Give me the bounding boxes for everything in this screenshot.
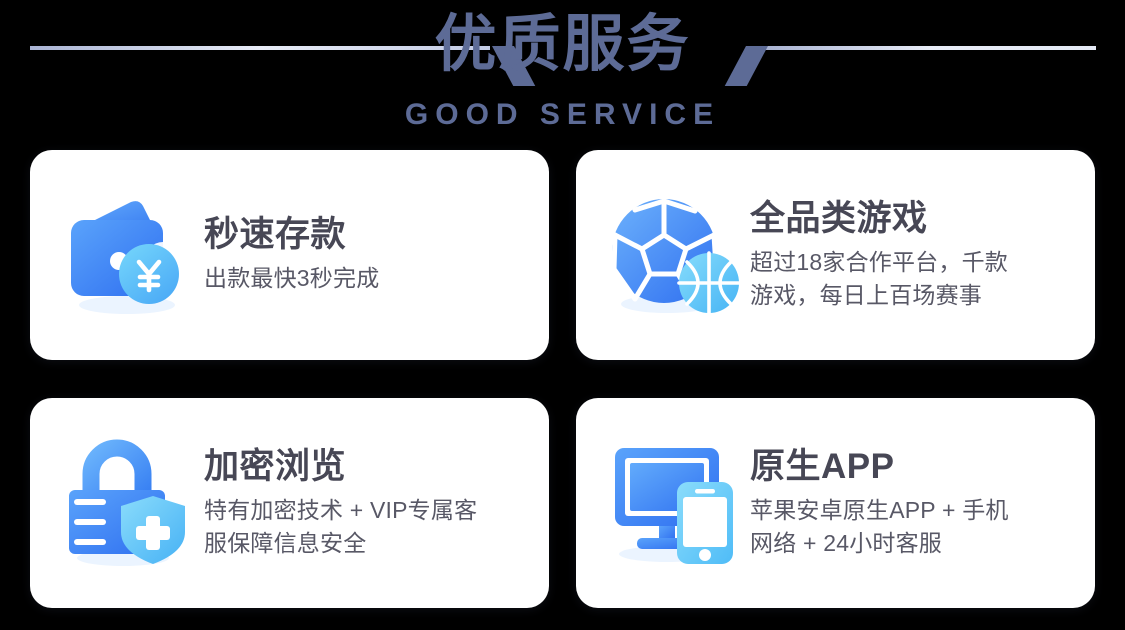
feature-card-text: 加密浏览 特有加密技术 + VIP专属客服保障信息安全	[200, 446, 527, 561]
feature-card-text: 秒速存款 出款最快3秒完成	[200, 214, 527, 296]
soccer-basketball-icon	[604, 185, 746, 325]
feature-card-title: 加密浏览	[204, 446, 527, 487]
feature-card[interactable]: 全品类游戏 超过18家合作平台，千款游戏，每日上百场赛事	[576, 150, 1095, 360]
feature-card-title: 原生APP	[750, 446, 1073, 487]
page-subtitle: GOOD SERVICE	[0, 98, 1125, 132]
page-header: 优质服务 GOOD SERVICE	[0, 0, 1125, 140]
feature-card-text: 全品类游戏 超过18家合作平台，千款游戏，每日上百场赛事	[746, 198, 1073, 313]
feature-card-desc: 苹果安卓原生APP + 手机网络 + 24小时客服	[750, 494, 1073, 561]
page-title: 优质服务	[0, 8, 1125, 81]
feature-card-text: 原生APP 苹果安卓原生APP + 手机网络 + 24小时客服	[746, 446, 1073, 561]
feature-card[interactable]: 加密浏览 特有加密技术 + VIP专属客服保障信息安全	[30, 398, 549, 608]
feature-card-title: 秒速存款	[204, 214, 527, 255]
wallet-yen-icon	[58, 185, 200, 325]
lock-shield-icon	[58, 433, 200, 573]
feature-card-desc: 超过18家合作平台，千款游戏，每日上百场赛事	[750, 246, 1073, 313]
feature-card-desc: 出款最快3秒完成	[204, 262, 527, 295]
monitor-phone-icon	[604, 433, 746, 573]
feature-card-grid: 秒速存款 出款最快3秒完成	[30, 150, 1095, 608]
feature-card[interactable]: 秒速存款 出款最快3秒完成	[30, 150, 549, 360]
feature-card-title: 全品类游戏	[750, 198, 1073, 239]
feature-card-desc: 特有加密技术 + VIP专属客服保障信息安全	[204, 494, 527, 561]
feature-card[interactable]: 原生APP 苹果安卓原生APP + 手机网络 + 24小时客服	[576, 398, 1095, 608]
